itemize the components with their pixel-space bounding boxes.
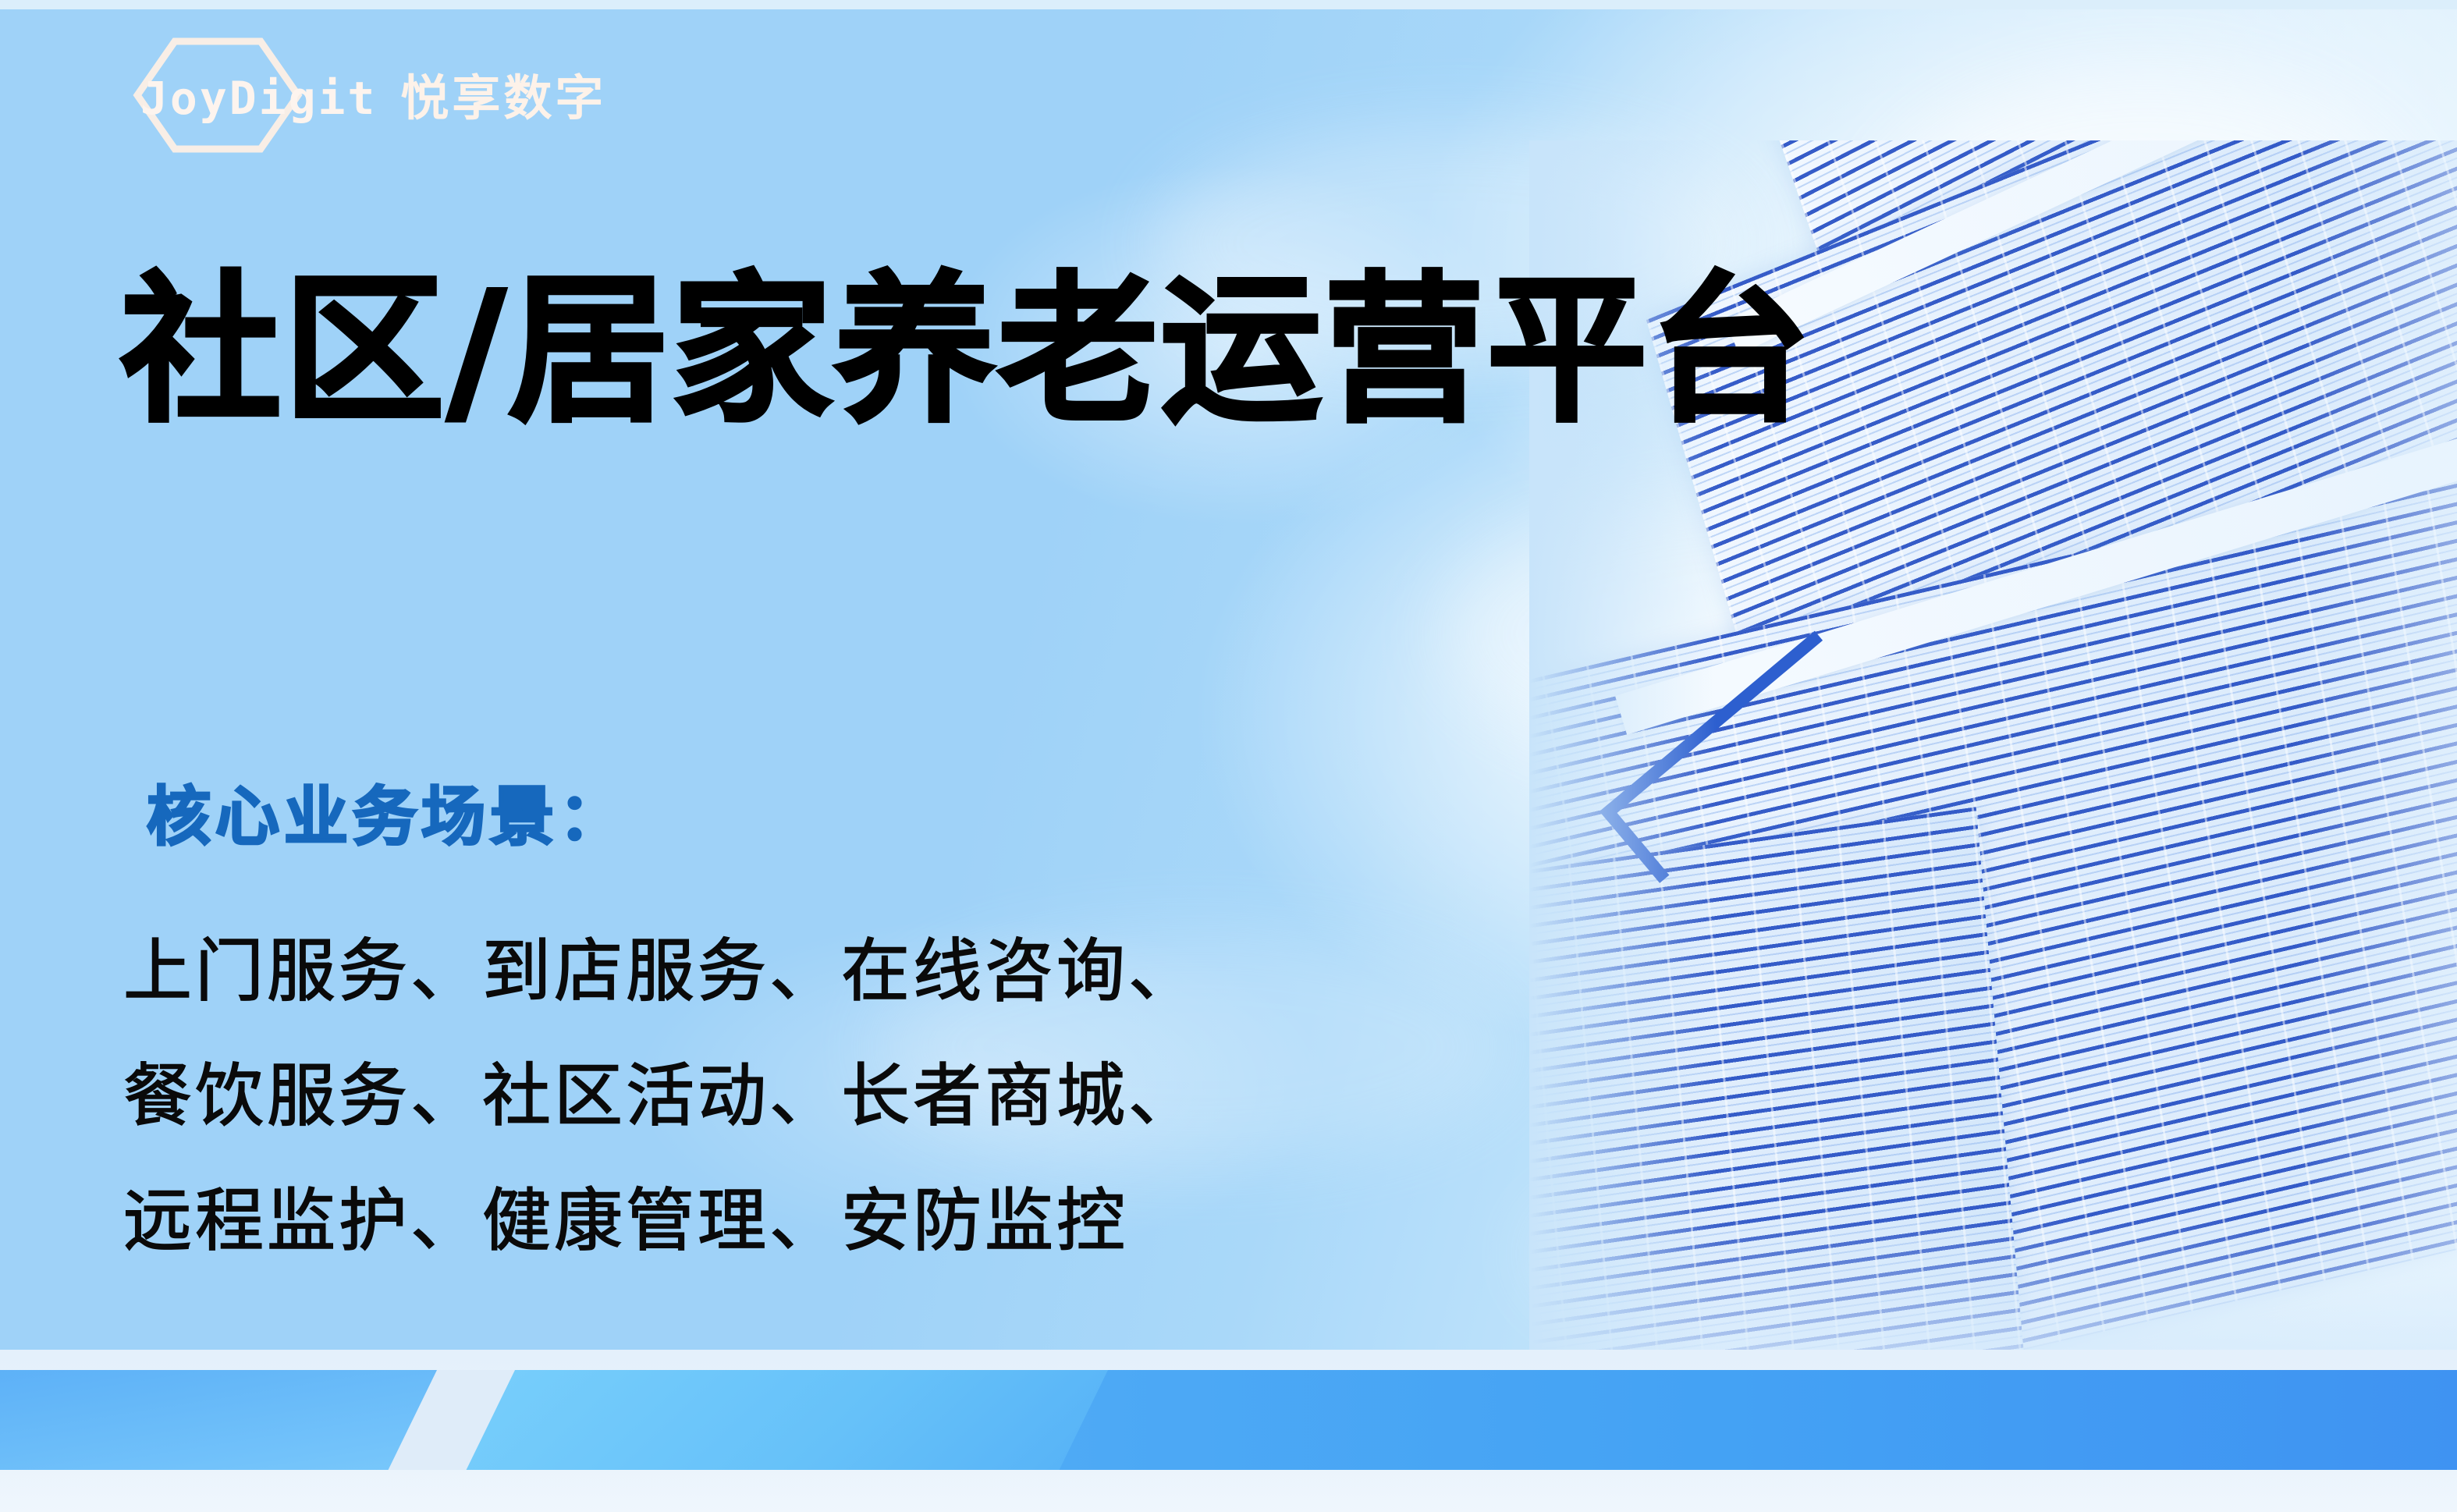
footer-parallelogram-mid (467, 1370, 1108, 1470)
scenario-line: 远程监护、健康管理、安防监控 (123, 1159, 1200, 1283)
brand-name-cn: 悦享数字 (400, 74, 606, 122)
scenario-list: 上门服务、到店服务、在线咨询、 餐饮服务、社区活动、长者商城、 远程监护、健康管… (123, 909, 1200, 1283)
slide-root: JoyDigit 悦享数字 社区/居家养老运营平台 核心业务场景： 上门服务、到… (0, 0, 2457, 1512)
scenario-line: 上门服务、到店服务、在线咨询、 (123, 909, 1200, 1034)
brand-logo: JoyDigit 悦享数字 (140, 74, 606, 122)
top-edge-strip (0, 0, 2457, 9)
page-title: 社区/居家养老运营平台 (121, 257, 1813, 446)
building-slab-curved (1529, 807, 2033, 1365)
footer-decoration (0, 1350, 2457, 1512)
brand-wordmark: JoyDigit (140, 76, 377, 121)
section-heading: 核心业务场景： (147, 765, 627, 857)
scenario-line: 餐饮服务、社区活动、长者商城、 (123, 1034, 1200, 1159)
